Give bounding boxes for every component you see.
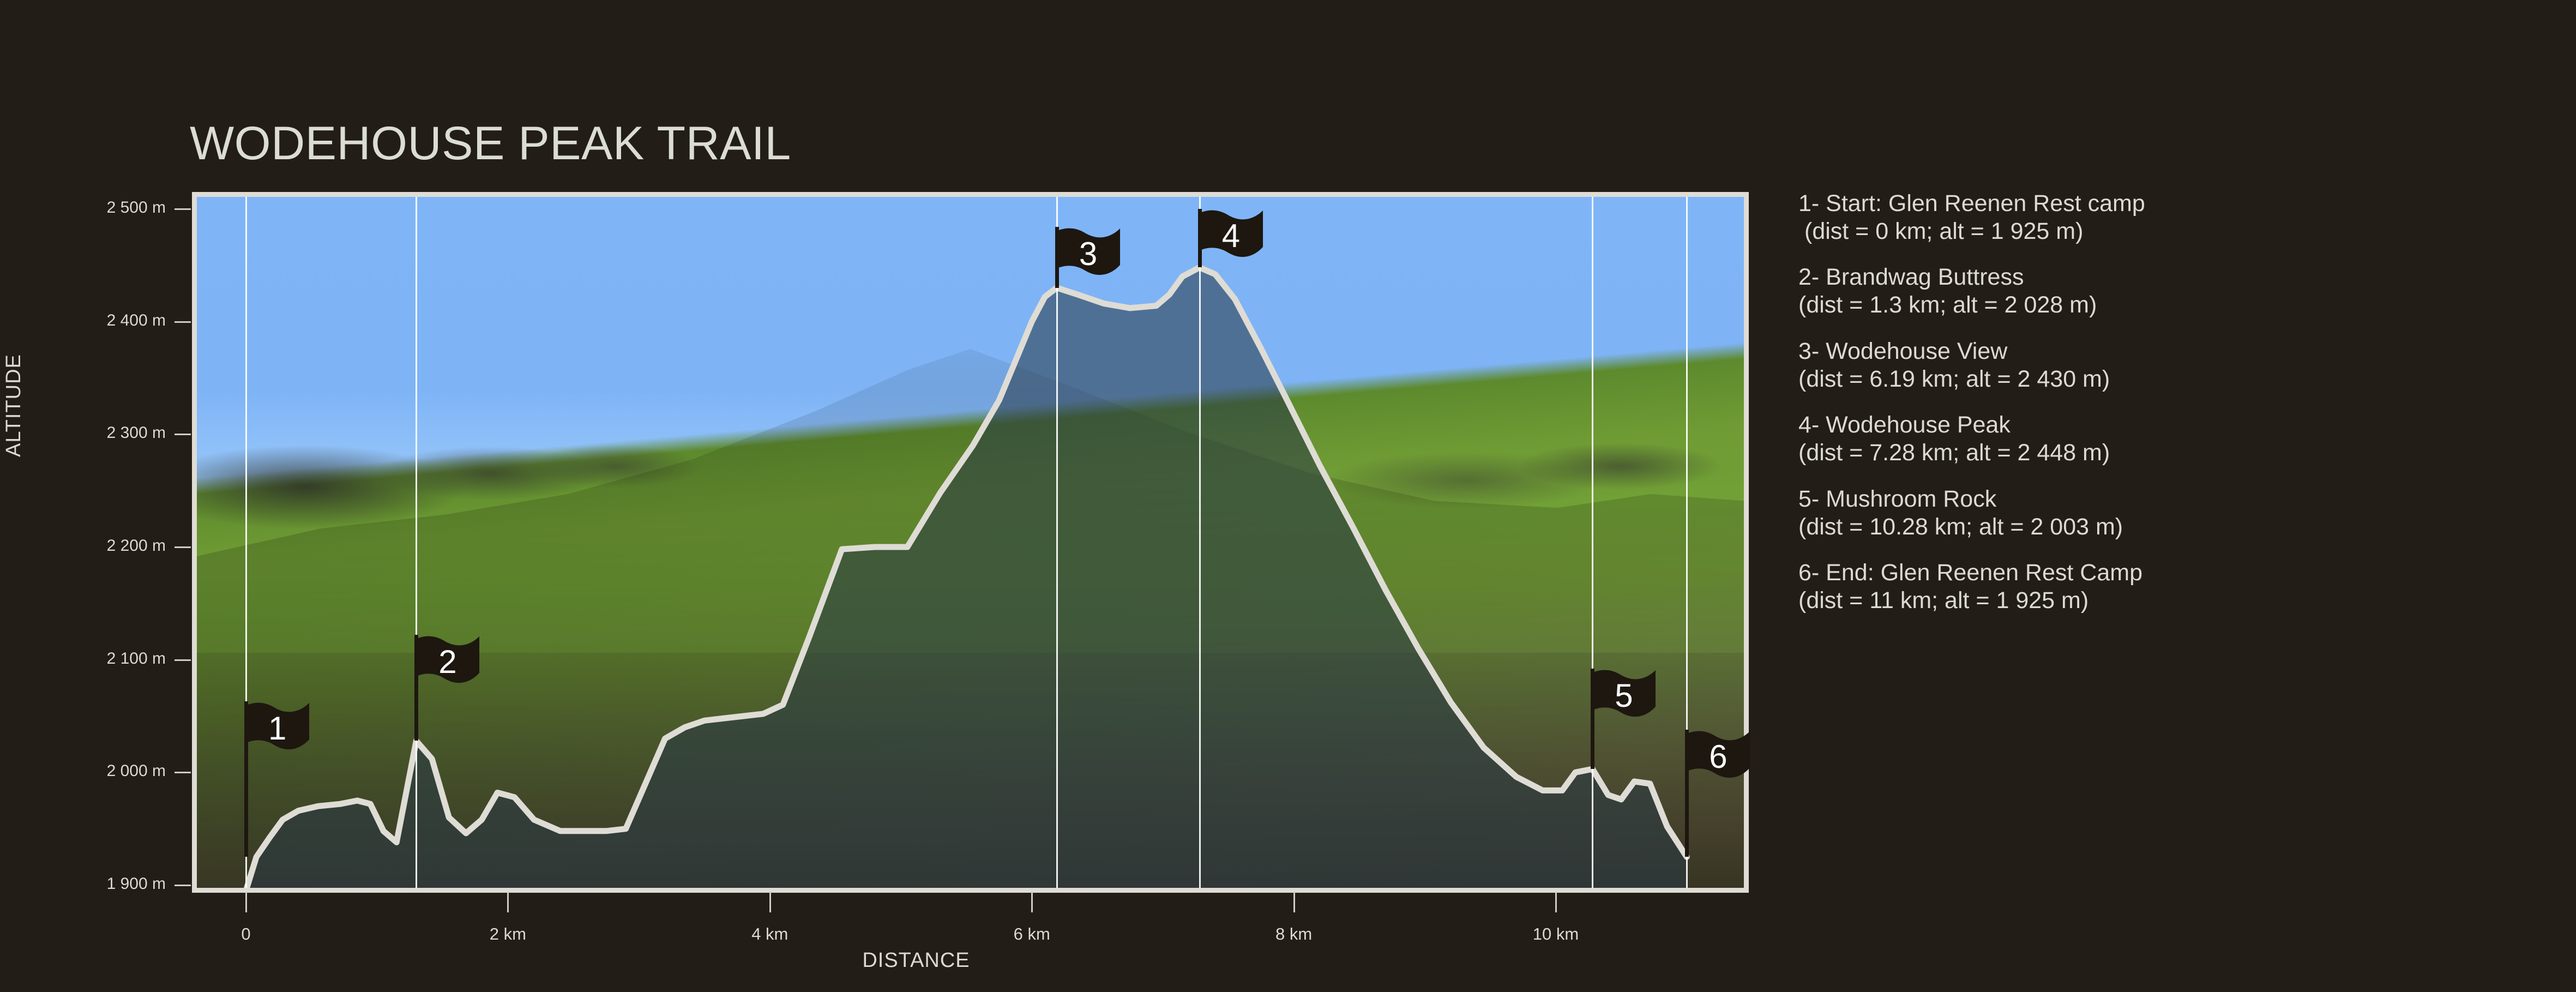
flag-marker-3[interactable]: 3 xyxy=(1055,227,1056,288)
flag-marker-6[interactable]: 6 xyxy=(1685,730,1686,857)
flag-number-label: 5 xyxy=(1615,680,1633,712)
flag-marker-2[interactable]: 2 xyxy=(414,635,416,741)
y-tick-mark xyxy=(174,546,191,548)
x-tick-mark xyxy=(769,892,771,912)
x-tick-label: 10 km xyxy=(1533,924,1579,944)
legend-item-title: 6- End: Glen Reenen Rest Camp xyxy=(1798,559,2551,587)
legend-item-title: 5- Mushroom Rock xyxy=(1798,485,2551,513)
y-tick-mark xyxy=(174,885,191,886)
y-tick-label: 2 400 m xyxy=(0,311,166,330)
x-tick-mark xyxy=(1293,892,1295,912)
x-axis-title: DISTANCE xyxy=(862,949,970,972)
legend-item-detail: (dist = 6.19 km; alt = 2 430 m) xyxy=(1798,365,2551,393)
flag-marker-4[interactable]: 4 xyxy=(1198,209,1199,267)
legend-item-detail: (dist = 10.28 km; alt = 2 003 m) xyxy=(1798,513,2551,541)
y-tick-label: 2 500 m xyxy=(0,199,166,217)
waypoint-legend: 1- Start: Glen Reenen Rest camp(dist = 0… xyxy=(1798,190,2551,633)
x-tick-mark xyxy=(245,892,247,912)
y-tick-mark xyxy=(174,772,191,773)
y-tick-mark xyxy=(174,659,191,661)
legend-item-title: 2- Brandwag Buttress xyxy=(1798,263,2551,291)
legend-item-6: 6- End: Glen Reenen Rest Camp(dist = 11 … xyxy=(1798,559,2551,614)
legend-item-2: 2- Brandwag Buttress(dist = 1.3 km; alt … xyxy=(1798,263,2551,318)
legend-item-5: 5- Mushroom Rock(dist = 10.28 km; alt = … xyxy=(1798,485,2551,540)
flag-marker-1[interactable]: 1 xyxy=(244,701,245,857)
elevation-profile-chart xyxy=(192,192,1749,893)
x-tick-mark xyxy=(1031,892,1033,912)
legend-item-4: 4- Wodehouse Peak(dist = 7.28 km; alt = … xyxy=(1798,411,2551,466)
y-tick-label: 2 300 m xyxy=(0,424,166,442)
legend-item-detail: (dist = 11 km; alt = 1 925 m) xyxy=(1798,587,2551,615)
legend-item-1: 1- Start: Glen Reenen Rest camp(dist = 0… xyxy=(1798,190,2551,245)
x-tick-label: 6 km xyxy=(1014,924,1050,944)
legend-item-detail: (dist = 1.3 km; alt = 2 028 m) xyxy=(1798,291,2551,319)
x-tick-mark xyxy=(1555,892,1557,912)
flag-number-label: 6 xyxy=(1709,741,1727,773)
x-tick-label: 2 km xyxy=(490,924,526,944)
x-tick-label: 4 km xyxy=(751,924,788,944)
y-tick-label: 2 000 m xyxy=(0,762,166,780)
y-tick-mark xyxy=(174,208,191,210)
x-tick-label: 8 km xyxy=(1275,924,1312,944)
flag-number-label: 1 xyxy=(268,712,286,745)
flag-marker-5[interactable]: 5 xyxy=(1591,669,1592,769)
marker-stem-2 xyxy=(416,197,417,888)
marker-stem-3 xyxy=(1056,197,1058,888)
marker-stem-4 xyxy=(1199,197,1201,888)
flag-number-label: 4 xyxy=(1222,220,1240,252)
legend-item-3: 3- Wodehouse View(dist = 6.19 km; alt = … xyxy=(1798,338,2551,393)
elevation-profile-polygon xyxy=(197,197,1744,888)
legend-item-title: 3- Wodehouse View xyxy=(1798,338,2551,365)
y-tick-mark xyxy=(174,434,191,435)
flag-number-label: 3 xyxy=(1079,238,1097,270)
legend-item-title: 4- Wodehouse Peak xyxy=(1798,411,2551,439)
marker-stem-5 xyxy=(1592,197,1593,888)
y-tick-mark xyxy=(174,321,191,323)
legend-item-detail: (dist = 0 km; alt = 1 925 m) xyxy=(1798,218,2551,245)
y-tick-label: 2 200 m xyxy=(0,537,166,555)
title-line-primary: WODEHOUSE PEAK TRAIL xyxy=(190,117,989,171)
x-tick-mark xyxy=(507,892,509,912)
x-tick-label: 0 xyxy=(241,924,250,944)
flag-number-label: 2 xyxy=(438,646,456,678)
y-tick-label: 2 100 m xyxy=(0,650,166,668)
y-tick-label: 1 900 m xyxy=(0,875,166,893)
legend-item-title: 1- Start: Glen Reenen Rest camp xyxy=(1798,190,2551,218)
legend-item-detail: (dist = 7.28 km; alt = 2 448 m) xyxy=(1798,439,2551,467)
